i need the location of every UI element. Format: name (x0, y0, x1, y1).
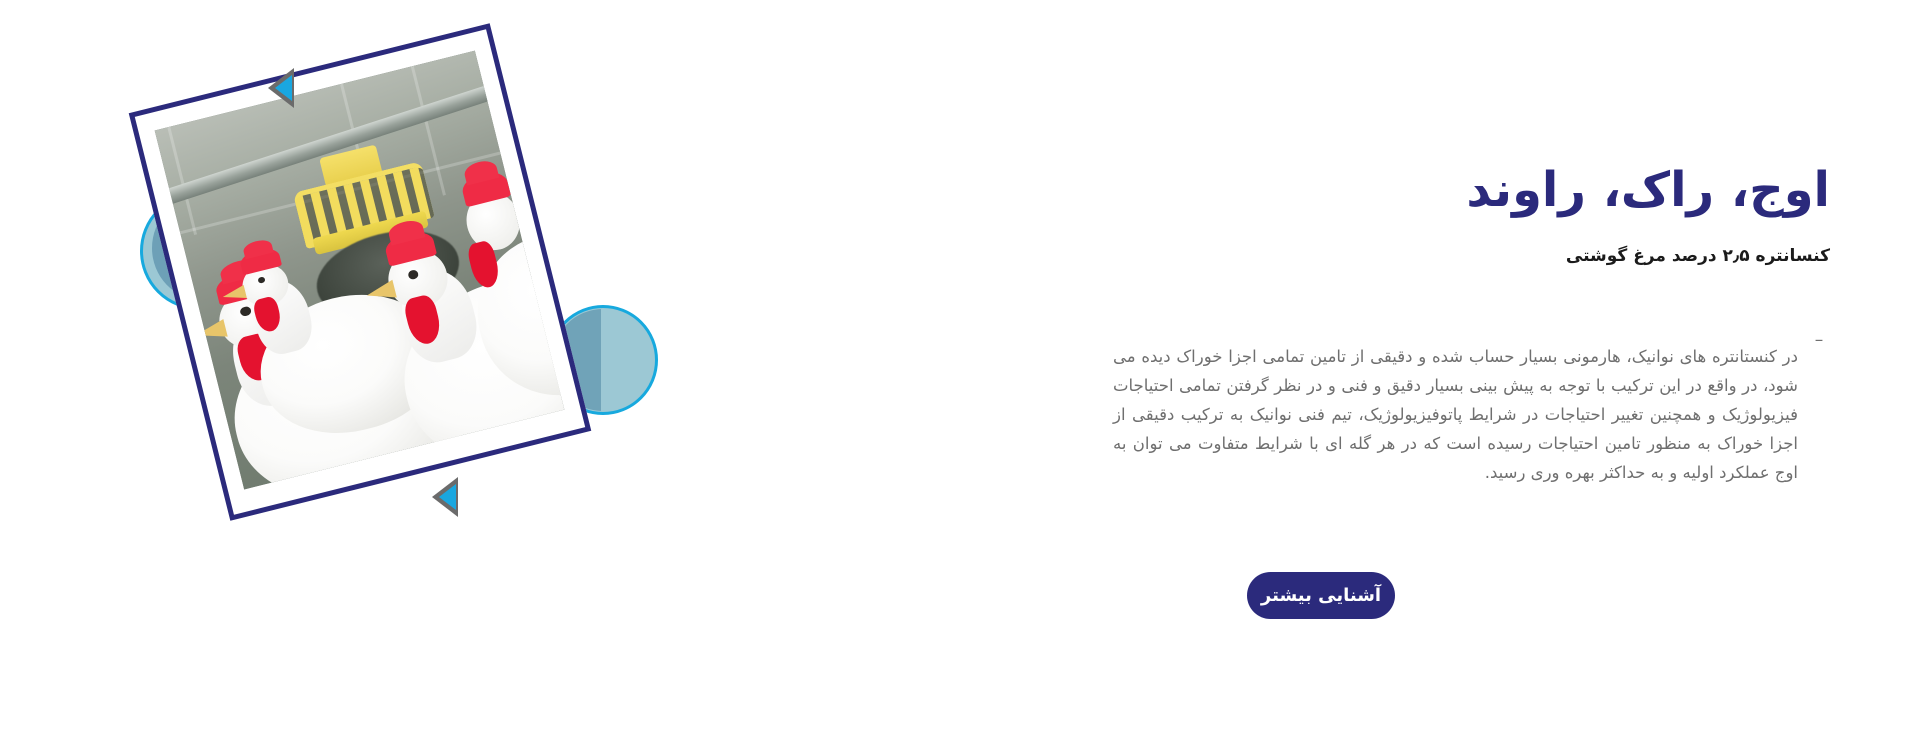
hero-media-area (0, 0, 760, 729)
triangle-fill-icon (275, 75, 292, 101)
cta-row: آشنایی بیشتر (800, 572, 1830, 619)
page-title: اوج، راک، راوند (800, 160, 1830, 220)
bullet-dash-marker: – (1808, 325, 1830, 355)
product-photo-frame (129, 23, 592, 521)
triangle-fill-icon (439, 484, 456, 510)
hero-subtitle: کنسانتره ۲٫۵ درصد مرغ گوشتی (800, 246, 1830, 266)
hero-section: اوج، راک، راوند کنسانتره ۲٫۵ درصد مرغ گو… (0, 0, 1920, 729)
product-photo (155, 51, 565, 490)
chicken-beak (221, 285, 247, 304)
learn-more-button[interactable]: آشنایی بیشتر (1247, 572, 1395, 619)
hero-content: اوج، راک، راوند کنسانتره ۲٫۵ درصد مرغ گو… (800, 0, 1830, 729)
hero-paragraph: در کنستانتره های نوانیک، هارمونی بسیار ح… (1113, 342, 1798, 487)
hero-description-block: – در کنستانتره های نوانیک، هارمونی بسیار… (800, 325, 1830, 503)
chicken-beak (365, 280, 397, 305)
